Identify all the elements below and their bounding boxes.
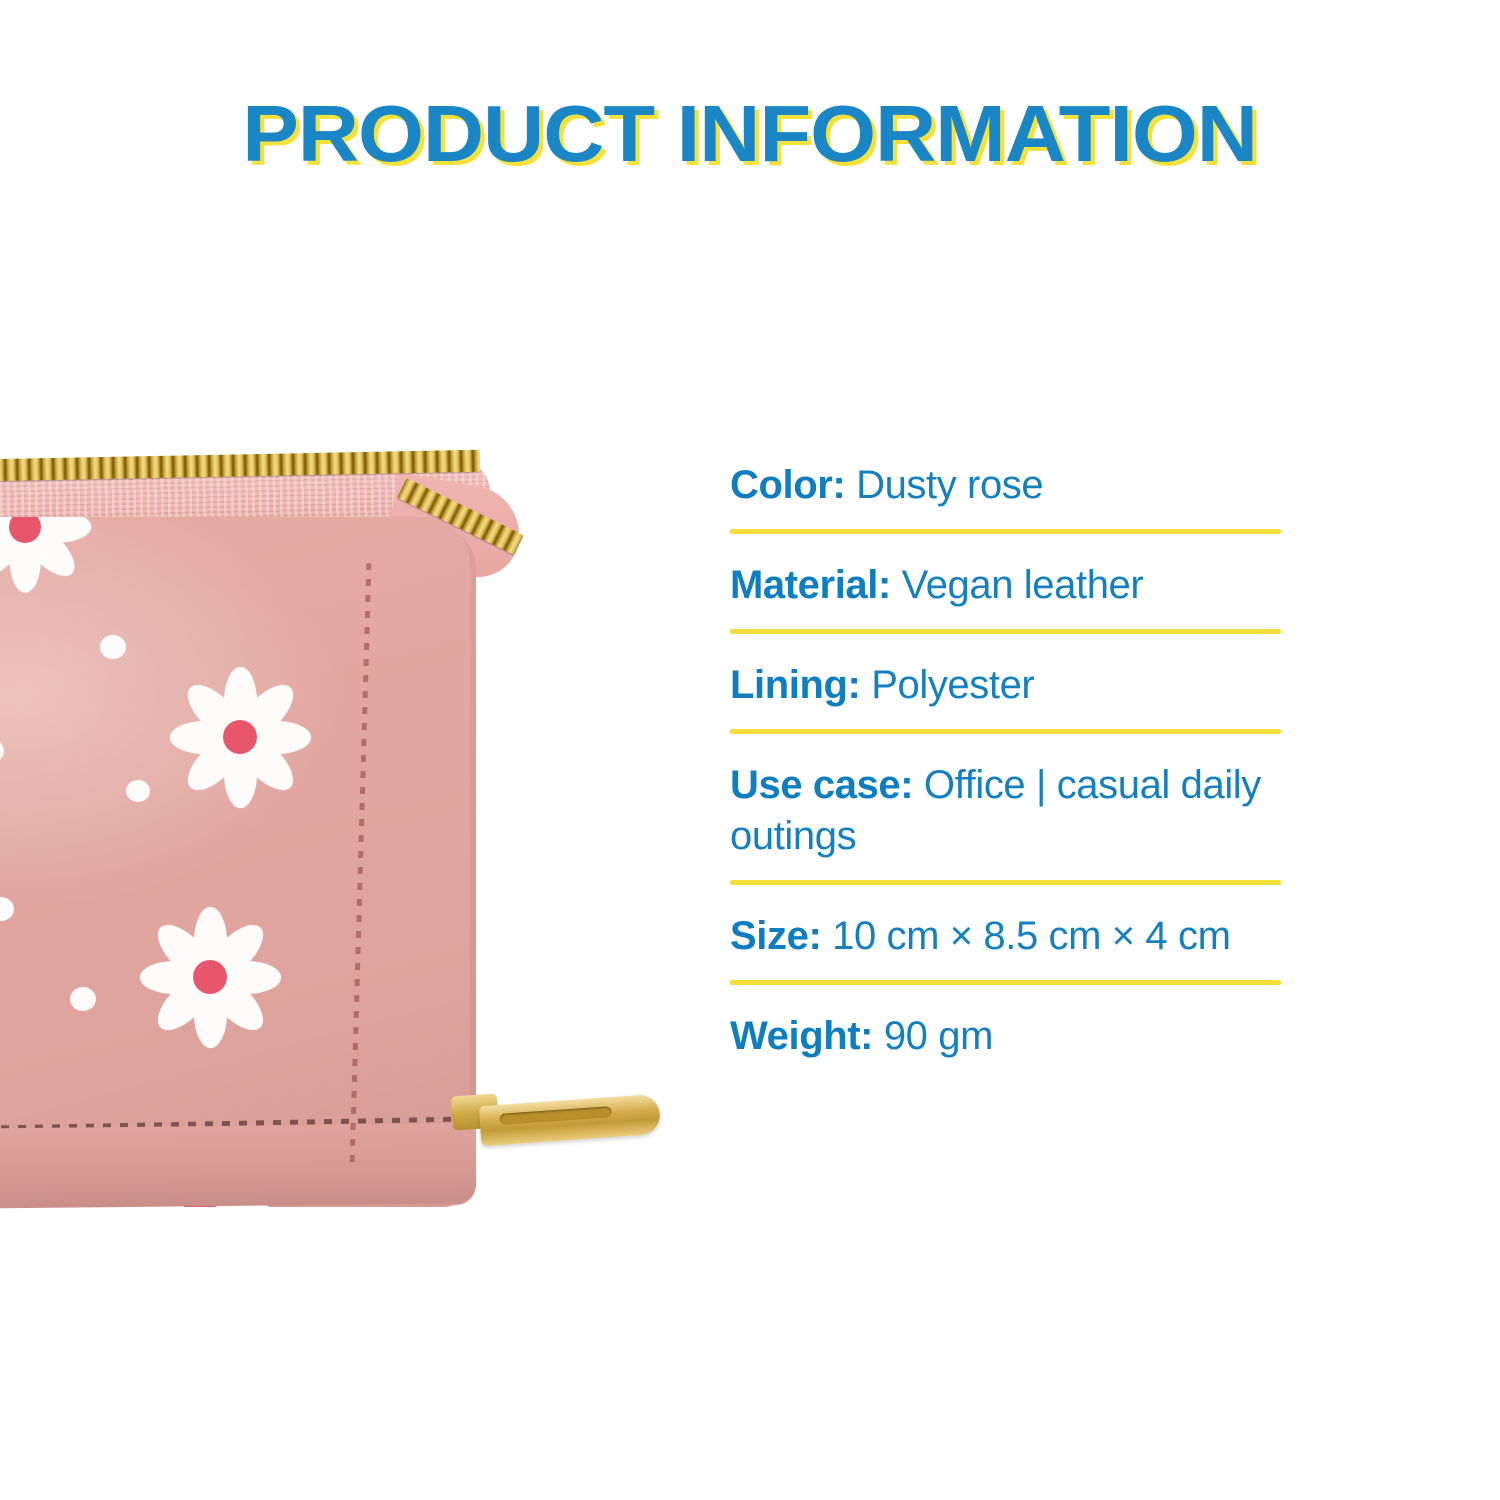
product-spec-list: Color: Dusty roseMaterial: Vegan leather…: [730, 452, 1286, 1076]
leather-sheen: [0, 517, 470, 1207]
spec-text: Weight: 90 gm: [730, 1003, 1286, 1076]
dot-accent: [70, 987, 96, 1011]
spec-value: Dusty rose: [856, 463, 1043, 507]
spec-divider: [730, 729, 1281, 734]
spec-text: Size: 10 cm × 8.5 cm × 4 cm: [730, 903, 1286, 976]
spec-divider: [730, 980, 1281, 985]
spec-text: Material: Vegan leather: [730, 552, 1286, 625]
spec-divider: [730, 880, 1281, 885]
daisy-flower: [135, 902, 285, 1052]
dot-accent: [0, 739, 4, 763]
spec-text: Use case: Office | casual daily outings: [730, 752, 1286, 876]
spec-label: Lining:: [730, 663, 860, 707]
spec-text: Color: Dusty rose: [730, 452, 1286, 525]
spec-row: Material: Vegan leather: [730, 552, 1286, 634]
spec-row: Lining: Polyester: [730, 652, 1286, 734]
wallet-front-panel: [0, 517, 470, 1207]
page-title-container: PRODUCT INFORMATION: [0, 92, 1500, 176]
spec-text: Lining: Polyester: [730, 652, 1286, 725]
spec-row: Size: 10 cm × 8.5 cm × 4 cm: [730, 903, 1286, 985]
dot-accent: [0, 897, 14, 921]
dot-accent: [126, 780, 150, 802]
spec-label: Size:: [730, 914, 821, 958]
spec-divider: [730, 629, 1281, 634]
spec-row: Weight: 90 gm: [730, 1003, 1286, 1076]
spec-label: Color:: [730, 463, 845, 507]
spec-value: 10 cm × 8.5 cm × 4 cm: [832, 914, 1230, 958]
spec-value: 90 gm: [884, 1014, 993, 1058]
spec-label: Material:: [730, 563, 891, 607]
spec-label: Use case:: [730, 763, 913, 807]
zipper-pull-tab: [479, 1094, 661, 1146]
spec-divider: [730, 529, 1281, 534]
spec-label: Weight:: [730, 1014, 873, 1058]
daisy-flower: [165, 662, 315, 812]
product-image: [0, 455, 560, 1215]
spec-row: Use case: Office | casual daily outings: [730, 752, 1286, 885]
zipper-pull-slot: [499, 1106, 611, 1125]
page-title: PRODUCT INFORMATION: [243, 92, 1258, 176]
dot-accent: [100, 635, 126, 659]
spec-value: Vegan leather: [902, 563, 1144, 607]
product-information-page: PRODUCT INFORMATION: [0, 0, 1500, 1500]
spec-value: Polyester: [871, 663, 1034, 707]
daisy-flower: [0, 517, 95, 597]
spec-row: Color: Dusty rose: [730, 452, 1286, 534]
wallet-base-panel: [0, 1123, 476, 1210]
